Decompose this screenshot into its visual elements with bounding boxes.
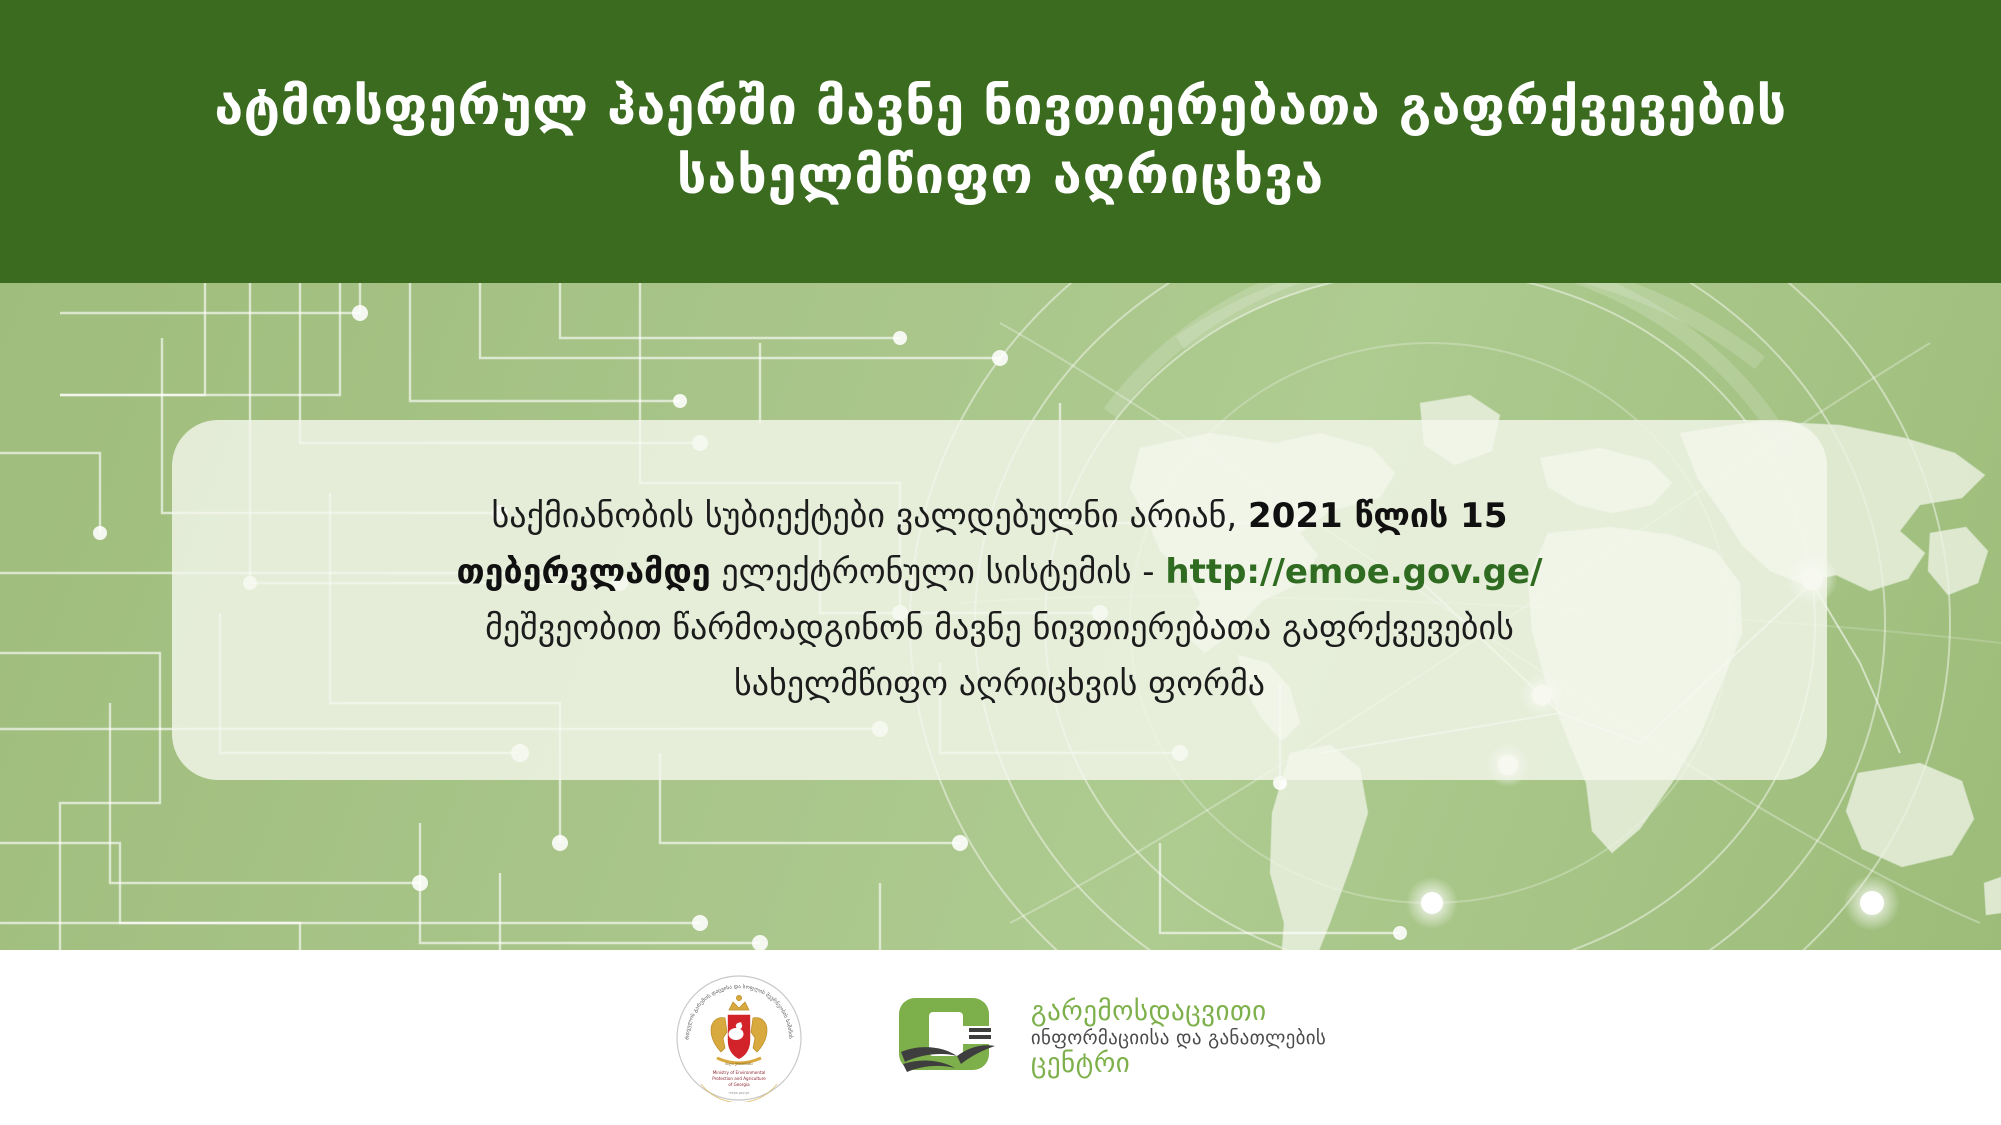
eiec-logo: გარემოსდაცვითი ინფორმაციისა და განათლები… [899,990,1326,1086]
emoe-portal-link[interactable]: http://emoe.gov.ge/ [1165,552,1542,592]
body-line-2-plain: ელექტრონული სისტემის - [711,552,1166,592]
page-title-line-1: ატმოსფერულ ჰაერში მავნე ნივთიერებათა გაფ… [214,78,1786,136]
eiec-book-leaf-icon [899,990,1017,1086]
map-node [1844,875,1900,931]
body-text-line-4: სახელმწიფო აღრიცხვის ფორმა [734,656,1265,712]
eiec-logo-text: გარემოსდაცვითი ინფორმაციისა და განათლები… [1031,997,1326,1079]
eiec-text-line-1: გარემოსდაცვითი [1031,997,1326,1026]
body-line-1-bold-date: 2021 წლის 15 [1248,496,1507,536]
map-node [1406,877,1458,929]
eiec-text-line-2: ინფორმაციისა და განათლების [1031,1028,1326,1049]
seal-caption-4: mepa.gov.ge [729,1091,750,1095]
poster-header: ატმოსფერულ ჰაერში მავნე ნივთიერებათა გაფ… [0,0,2001,283]
content-card-inner: საქმიანობის სუბიექტები ვალდებულნი არიან,… [172,420,1827,780]
eiec-text-line-3: ცენტრი [1031,1049,1326,1078]
seal-caption-1: Ministry of Environmental [713,1070,766,1075]
body-line-2-bold-deadline: თებერვლამდე [456,552,710,592]
seal-caption-2: Protection and Agriculture [712,1076,766,1081]
ministry-seal-logo: საქართველოს გარემოს დაცვისა და სოფლის მე… [675,974,803,1102]
poster-root: ატმოსფერულ ჰაერში მავნე ნივთიერებათა გაფ… [0,0,2001,1125]
page-title-line-2: სახელმწიფო აღრიცხვა [677,147,1324,205]
body-text-line-1: საქმიანობის სუბიექტები ვალდებულნი არიან,… [492,488,1508,544]
body-text-line-2: თებერვლამდე ელექტრონული სისტემის - http:… [456,544,1542,600]
body-line-1-plain: საქმიანობის სუბიექტები ვალდებულნი არიან, [492,496,1249,536]
content-card: საქმიანობის სუბიექტები ვალდებულნი არიან,… [172,420,1827,780]
svg-text:ძალა ერთობაშია: ძალა ერთობაშია [725,1062,753,1066]
body-text-line-3: მეშვეობით წარმოადგინონ მავნე ნივთიერებათ… [485,600,1514,656]
ministry-seal-icon: საქართველოს გარემოს დაცვისა და სოფლის მე… [675,974,803,1102]
poster-footer: საქართველოს გარემოს დაცვისა და სოფლის მე… [0,950,2001,1125]
seal-caption-3: of Georgia [728,1082,750,1087]
